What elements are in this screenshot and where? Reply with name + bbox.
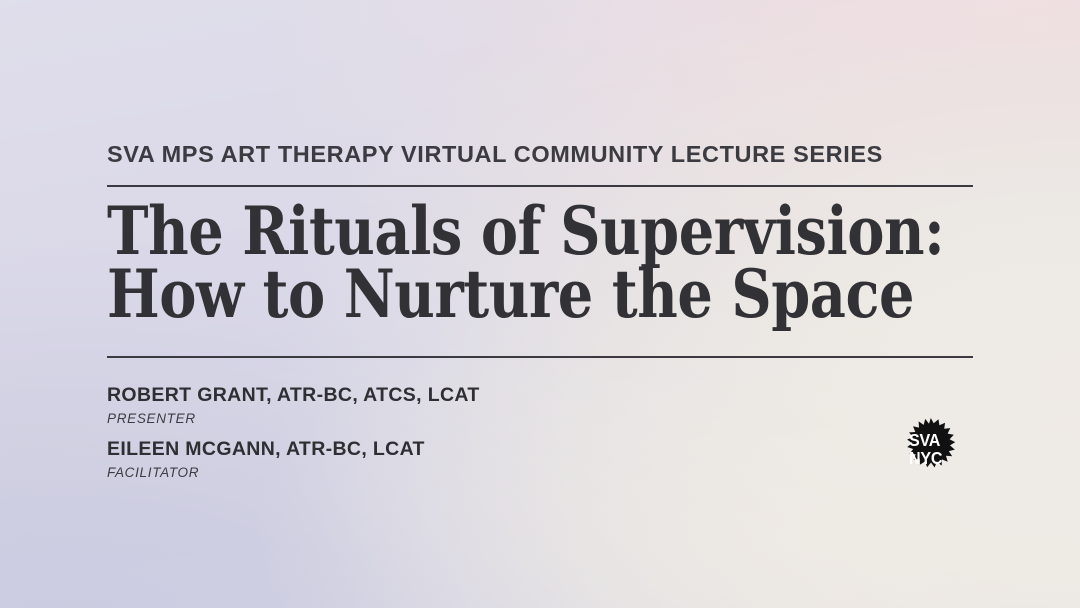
page-title-line-2: How to Nurture the Space <box>107 263 851 326</box>
page-title-line-1: The Rituals of Supervision: <box>107 200 851 263</box>
logo-line-sva: SVA <box>909 432 949 450</box>
logo-line-nyc: NYC <box>909 450 949 468</box>
page-title: The Rituals of Supervision: How to Nurtu… <box>107 200 851 326</box>
series-eyebrow: SVA MPS ART THERAPY VIRTUAL COMMUNITY LE… <box>107 143 883 167</box>
divider-bottom <box>107 356 973 358</box>
presenter-name: ROBERT GRANT, ATR-BC, ATCS, LCAT <box>107 383 480 408</box>
slide-content: SVA MPS ART THERAPY VIRTUAL COMMUNITY LE… <box>107 0 973 608</box>
lecture-title-slide: SVA MPS ART THERAPY VIRTUAL COMMUNITY LE… <box>0 0 1080 608</box>
logo-wordmark: SVA NYC <box>909 432 949 467</box>
sva-nyc-logo: SVA NYC <box>893 415 967 489</box>
credits-block: ROBERT GRANT, ATR-BC, ATCS, LCAT PRESENT… <box>107 383 480 491</box>
facilitator-role: FACILITATOR <box>107 462 480 483</box>
divider-top <box>107 185 973 187</box>
presenter-role: PRESENTER <box>107 408 480 429</box>
facilitator-name: EILEEN MCGANN, ATR-BC, LCAT <box>107 437 480 462</box>
